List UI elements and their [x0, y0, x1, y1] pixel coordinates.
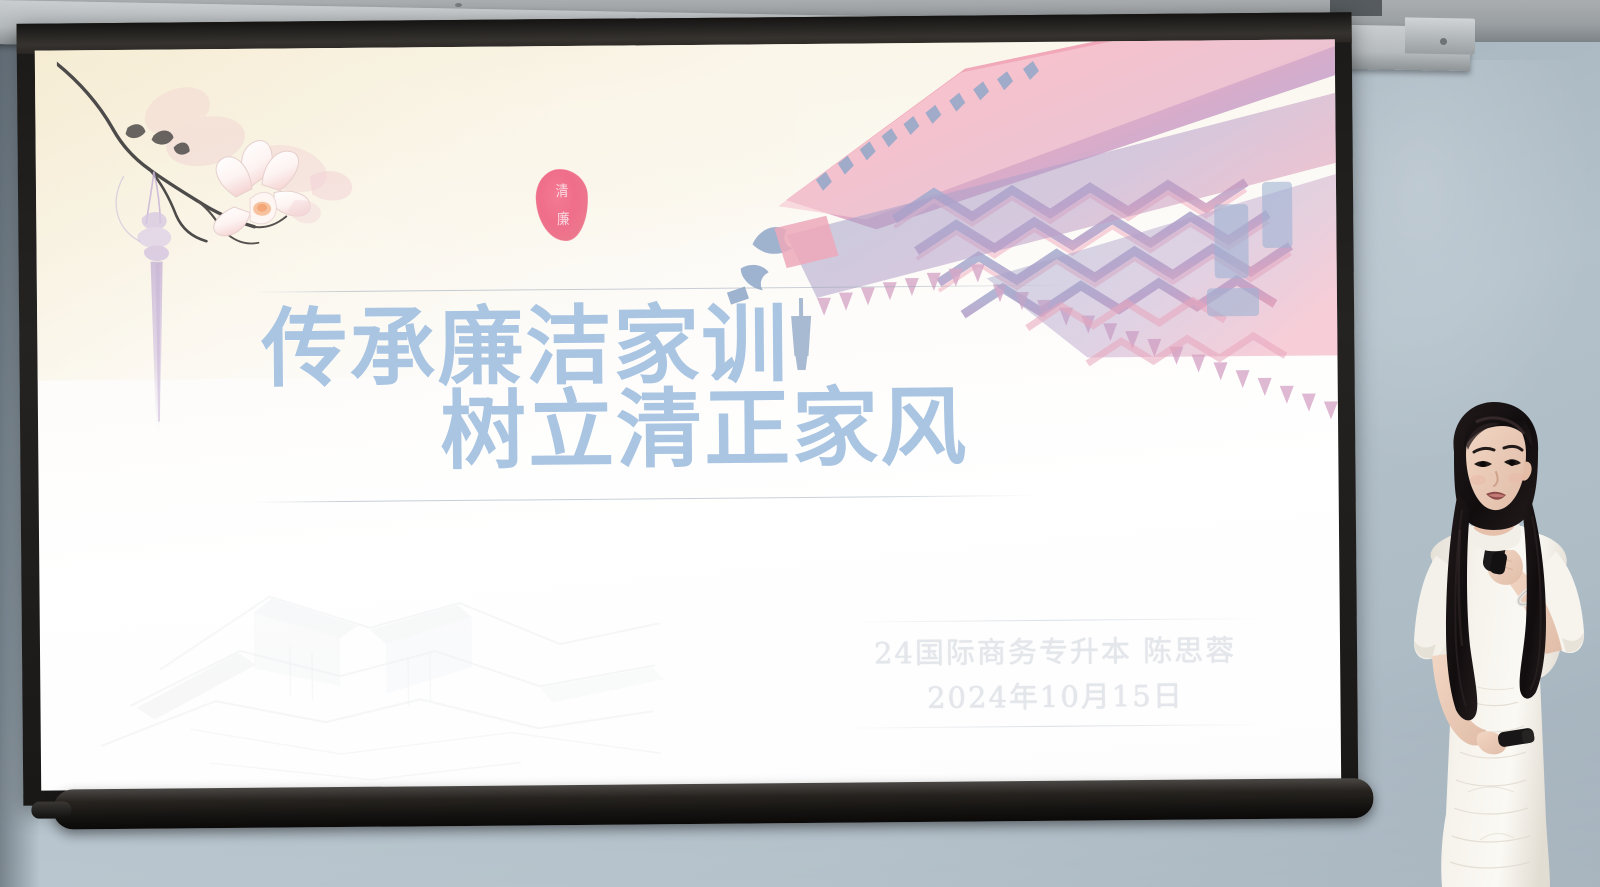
- slide-subtitle: 24国际商务专升本 陈思蓉 2024年10月15日: [845, 628, 1266, 722]
- projection-screen: 清 廉 传承廉洁家训 树立清正家风 24国际商务专升本 陈思蓉 2024年10月…: [17, 12, 1359, 824]
- ceiling-speck-2: [455, 3, 462, 7]
- presenter-person: [1370, 400, 1600, 887]
- subtitle-rule-bottom: [846, 724, 1266, 729]
- architecture-watermark: [39, 515, 681, 791]
- room-scene: 清 廉 传承廉洁家训 树立清正家风 24国际商务专升本 陈思蓉 2024年10月…: [0, 0, 1600, 887]
- subtitle-date: 2024年10月15日: [845, 673, 1265, 722]
- seal-glyph-bottom: 廉: [557, 212, 570, 228]
- seal-glyph-group: 清 廉: [544, 177, 581, 233]
- title-rule-bottom: [254, 495, 1034, 503]
- seal-glyph-top: 清: [555, 184, 568, 200]
- screen-housing-end-cap: [1405, 17, 1475, 54]
- slide-title: 传承廉洁家训 树立清正家风: [247, 300, 1048, 478]
- screen-bar-end-cap: [31, 801, 71, 818]
- subtitle-rule-top: [845, 618, 1265, 623]
- slide-canvas: 清 廉 传承廉洁家训 树立清正家风 24国际商务专升本 陈思蓉 2024年10月…: [35, 39, 1341, 790]
- subtitle-presenter: 24国际商务专升本 陈思蓉: [845, 628, 1265, 677]
- red-seal-stamp: 清 廉: [535, 168, 590, 242]
- housing-screw: [1440, 38, 1447, 45]
